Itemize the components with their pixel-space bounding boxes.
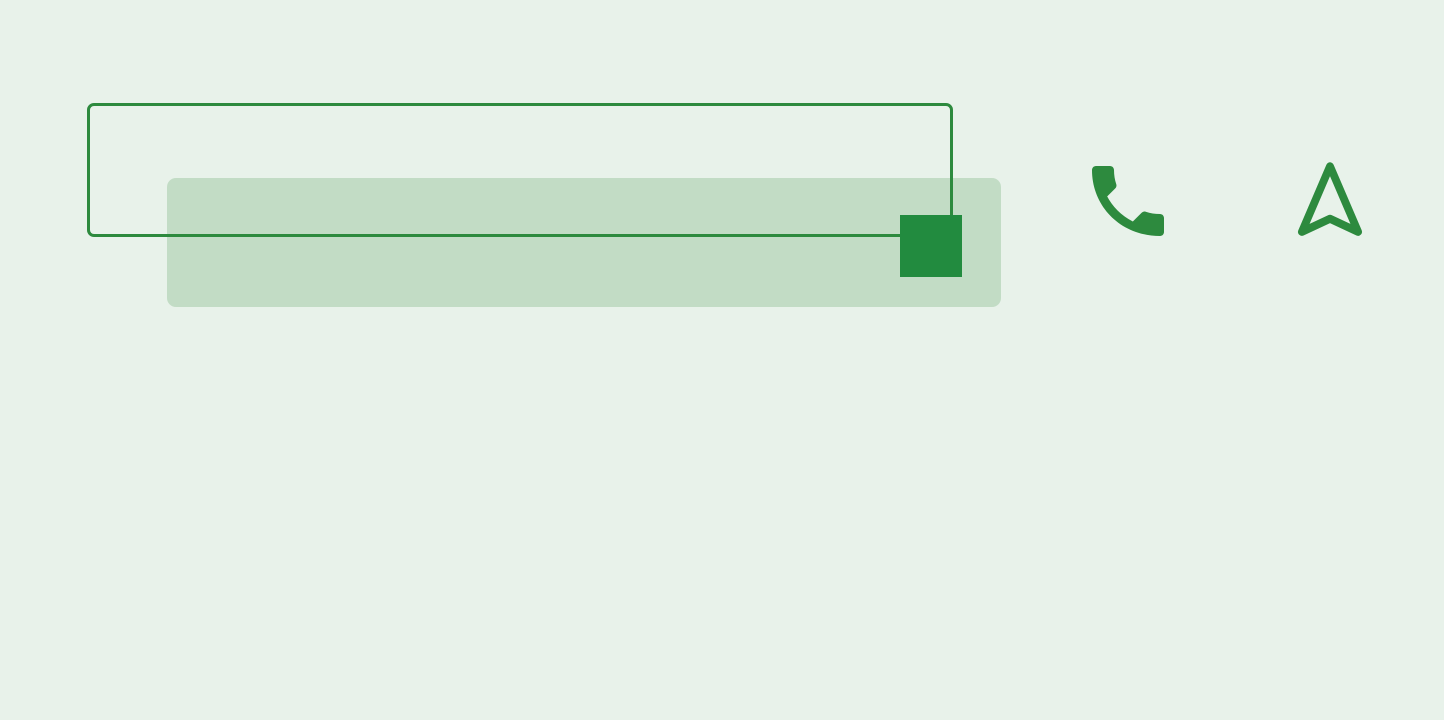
phone-icon[interactable]	[1080, 152, 1176, 248]
solid-marker	[900, 215, 962, 277]
event-row[interactable]: Night Owls Hackathon 4 PM – Tomorrow 8:3…	[0, 372, 1444, 642]
screen-root: Night Owls Hackathon 4 PM – Tomorrow 8:3…	[0, 0, 1444, 720]
navigation-arrow-icon[interactable]	[1285, 150, 1375, 250]
outlined-field[interactable]	[87, 103, 953, 237]
